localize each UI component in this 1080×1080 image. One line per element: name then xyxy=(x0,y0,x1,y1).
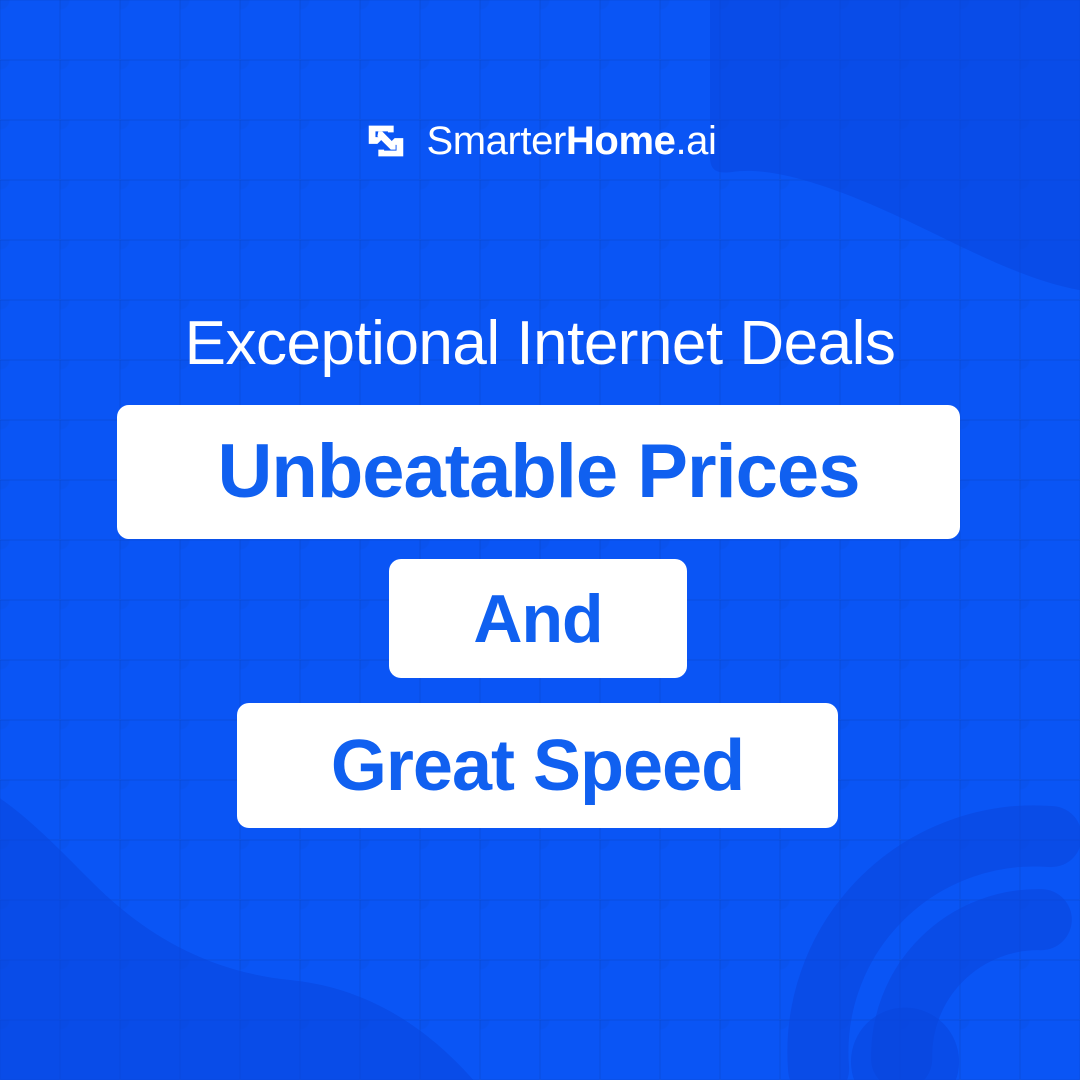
highlight-card-and: And xyxy=(389,559,687,678)
highlight-card-great-speed: Great Speed xyxy=(237,703,838,828)
highlight-card-label: Unbeatable Prices xyxy=(218,434,860,510)
promo-canvas: SmarterHome.ai Exceptional Internet Deal… xyxy=(0,0,1080,1080)
brand-name: SmarterHome.ai xyxy=(426,121,716,161)
smarterhome-s-logo-icon xyxy=(363,118,409,164)
brand-name-part-2: Home xyxy=(566,119,676,163)
brand-name-part-3: .ai xyxy=(675,119,716,163)
brand-lockup: SmarterHome.ai xyxy=(0,118,1080,164)
highlight-card-unbeatable-prices: Unbeatable Prices xyxy=(117,405,960,539)
highlight-card-label: And xyxy=(473,585,602,653)
highlight-card-label: Great Speed xyxy=(331,730,744,802)
headline: Exceptional Internet Deals xyxy=(0,311,1080,376)
brand-name-part-1: Smarter xyxy=(426,119,565,163)
